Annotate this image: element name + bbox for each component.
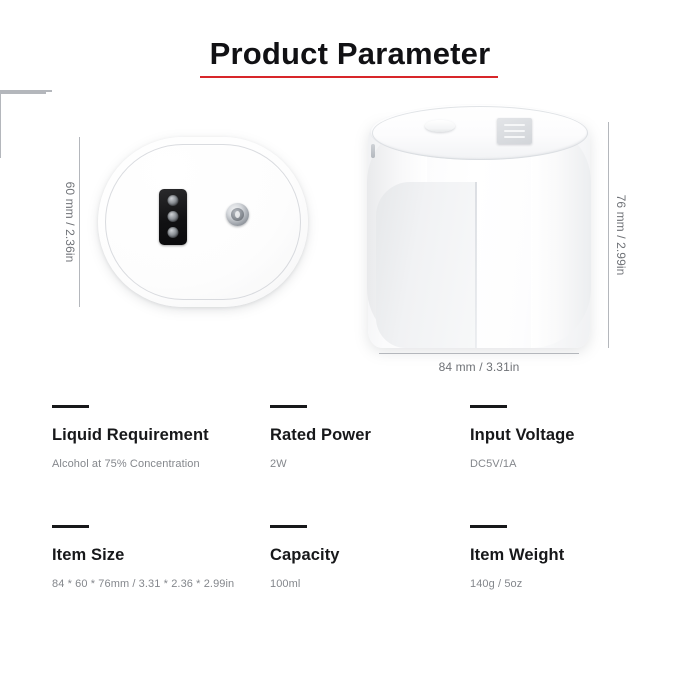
product-perspective-view xyxy=(368,104,590,349)
accent-bar xyxy=(52,405,89,408)
dim-cap-left-width xyxy=(0,94,1,126)
spec-title: Item Size xyxy=(52,546,267,565)
spec-value: 84 * 60 * 76mm / 3.31 * 2.36 * 2.99in xyxy=(52,578,267,590)
accent-bar xyxy=(270,405,307,408)
spec-title: Liquid Requirement xyxy=(52,426,267,445)
spec-title: Rated Power xyxy=(270,426,485,445)
product-illustration-area: 60 mm / 2.36in 76 mm / 2.99in xyxy=(0,90,700,390)
spec-value: 2W xyxy=(270,458,485,470)
product-parameter-page: Product Parameter 60 mm / 2.36in xyxy=(0,0,700,700)
spec-title: Capacity xyxy=(270,546,485,565)
three-lens-sensor-icon xyxy=(159,189,187,245)
accent-bar xyxy=(270,525,307,528)
spec-value: 140g / 5oz xyxy=(470,578,685,590)
product-top-down-view xyxy=(98,137,308,307)
front-panel-seam xyxy=(475,182,477,348)
spec-value: DC5V/1A xyxy=(470,458,685,470)
dim-line-right-height xyxy=(608,122,609,348)
dim-line-width xyxy=(379,353,579,354)
spec-capacity: Capacity 100ml xyxy=(270,525,485,590)
dim-label-height-76mm: 76 mm / 2.99in xyxy=(614,188,628,282)
dim-cap-bottom-right xyxy=(0,93,46,94)
spec-title: Input Voltage xyxy=(470,426,685,445)
device-body-right-curve xyxy=(531,122,591,348)
patch-line-1 xyxy=(504,124,525,126)
title-underline xyxy=(200,76,498,78)
spray-nozzle-icon xyxy=(226,203,249,226)
nozzle-inner-ring xyxy=(231,208,244,221)
sensor-patch-icon xyxy=(497,118,532,144)
top-view-rim xyxy=(105,144,301,300)
sensor-lens-3 xyxy=(168,227,179,238)
spec-value: Alcohol at 75% Concentration xyxy=(52,458,267,470)
spec-item-weight: Item Weight 140g / 5oz xyxy=(470,525,685,590)
patch-line-3 xyxy=(504,136,525,138)
accent-bar xyxy=(52,525,89,528)
sensor-lens-1 xyxy=(168,195,179,206)
side-clip-detail xyxy=(371,144,375,158)
dim-cap-right-width xyxy=(0,126,1,158)
sensor-lens-2 xyxy=(168,211,179,222)
translucent-front-panel xyxy=(376,182,476,348)
spec-row-1: Liquid Requirement Alcohol at 75% Concen… xyxy=(0,405,700,525)
spec-input-voltage: Input Voltage DC5V/1A xyxy=(470,405,685,470)
spec-row-2: Item Size 84 * 60 * 76mm / 3.31 * 2.36 *… xyxy=(0,525,700,645)
spec-rated-power: Rated Power 2W xyxy=(270,405,485,470)
nozzle-bump-icon xyxy=(425,120,455,132)
device-top-edge xyxy=(372,106,588,160)
patch-line-2 xyxy=(504,130,525,132)
accent-bar xyxy=(470,405,507,408)
spec-item-size: Item Size 84 * 60 * 76mm / 3.31 * 2.36 *… xyxy=(52,525,267,590)
accent-bar xyxy=(470,525,507,528)
spec-value: 100ml xyxy=(270,578,485,590)
spec-title: Item Weight xyxy=(470,546,685,565)
nozzle-hole xyxy=(235,211,240,218)
spec-liquid-requirement: Liquid Requirement Alcohol at 75% Concen… xyxy=(52,405,267,470)
dim-label-height-60mm: 60 mm / 2.36in xyxy=(63,175,77,269)
page-title: Product Parameter xyxy=(0,36,700,72)
dim-line-left-height xyxy=(79,137,80,307)
dim-label-width-84mm: 84 mm / 3.31in xyxy=(379,360,579,374)
